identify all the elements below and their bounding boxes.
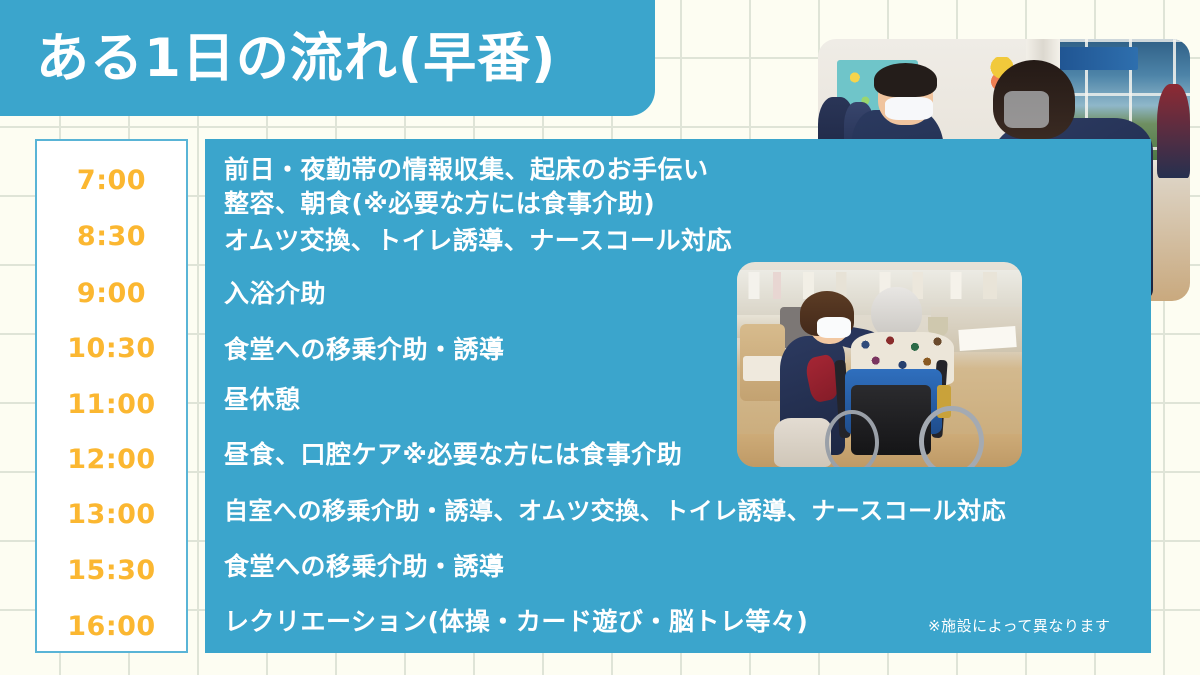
time-label-2: 9:00 xyxy=(37,280,186,307)
schedule-row-description-2: 入浴介助 xyxy=(224,277,326,311)
title-banner: ある1日の流れ(早番) xyxy=(0,0,655,116)
time-label-0: 7:00 xyxy=(37,167,186,194)
time-label-3: 10:30 xyxy=(37,335,186,362)
schedule-row-description-6: 自室への移乗介助・誘導、オムツ交換、トイレ誘導、ナースコール対応 xyxy=(224,495,1006,527)
schedule-row-description-7: 食堂への移乗介助・誘導 xyxy=(224,550,505,584)
schedule-row-description-1: オムツ交換、トイレ誘導、ナースコール対応 xyxy=(224,224,732,258)
footnote-text: ※施設によって異なります xyxy=(928,615,1110,636)
time-label-8: 16:00 xyxy=(37,613,186,640)
schedule-row-description-3: 食堂への移乗介助・誘導 xyxy=(224,333,505,367)
schedule-line: 整容、朝食(※必要な方には食事介助) xyxy=(224,189,655,218)
schedule-row-description-5: 昼食、口腔ケア※必要な方には食事介助 xyxy=(224,438,682,472)
time-label-4: 11:00 xyxy=(37,391,186,418)
schedule-line: 前日・夜勤帯の情報収集、起床のお手伝い xyxy=(224,155,709,184)
schedule-row-description-0: 前日・夜勤帯の情報収集、起床のお手伝い 整容、朝食(※必要な方には食事介助) xyxy=(224,153,709,221)
schedule-row-description-8: レクリエーション(体操・カード遊び・脳トレ等々) xyxy=(224,605,808,639)
time-label-5: 12:00 xyxy=(37,446,186,473)
page-title: ある1日の流れ(早番) xyxy=(36,32,556,85)
schedule-row-description-4: 昼休憩 xyxy=(224,383,301,417)
time-label-7: 15:30 xyxy=(37,557,186,584)
time-label-6: 13:00 xyxy=(37,501,186,528)
slide-canvas: 前日・夜勤帯の情報収集、起床のお手伝い 整容、朝食(※必要な方には食事介助) オ… xyxy=(0,0,1200,675)
photo-wheelchair-assist xyxy=(737,262,1022,467)
time-column-card: 7:00 8:30 9:00 10:30 11:00 12:00 13:00 1… xyxy=(35,139,188,653)
time-label-1: 8:30 xyxy=(37,223,186,250)
